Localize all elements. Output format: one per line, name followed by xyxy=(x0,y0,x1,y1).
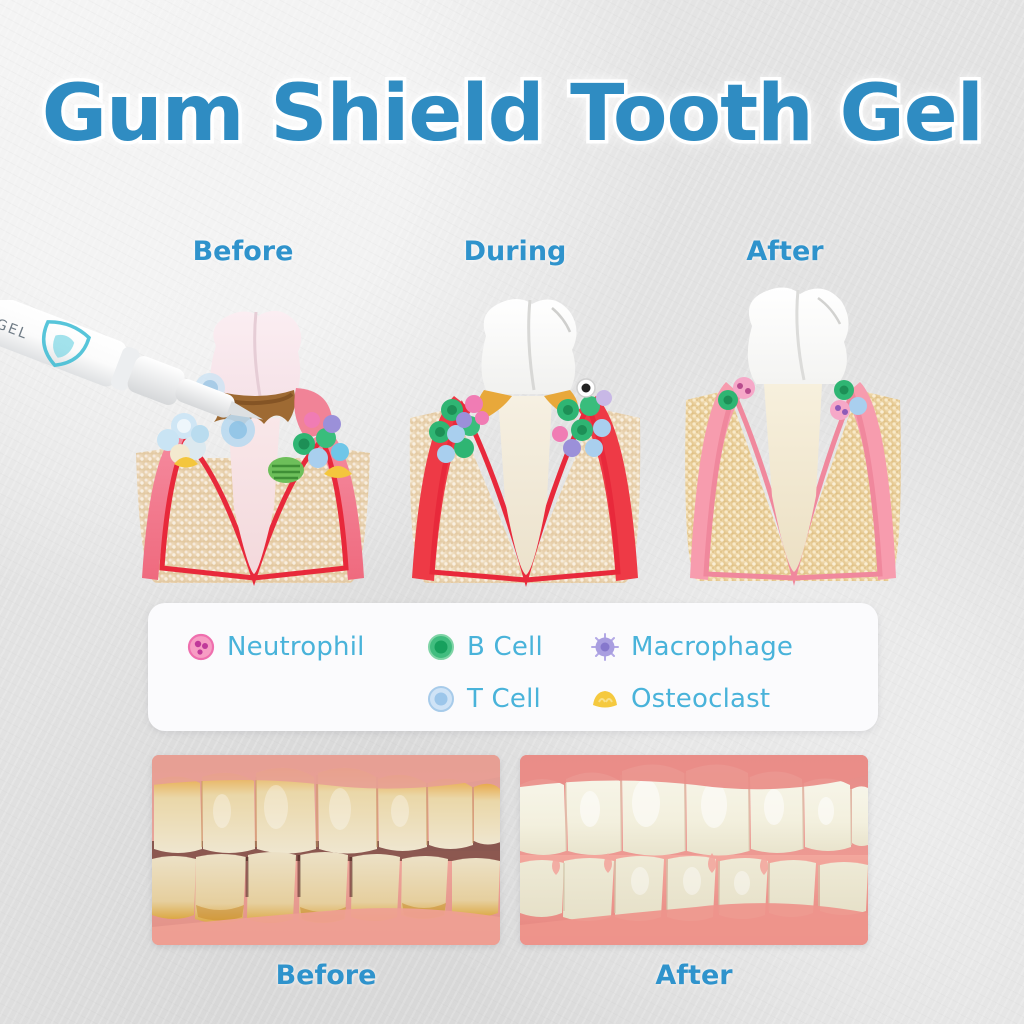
page-title: Gum Shield Tooth Gel xyxy=(41,72,982,156)
legend-item-b-cell: B Cell xyxy=(426,628,543,666)
tooth-after-illustration xyxy=(668,278,918,588)
photo-label-before: Before xyxy=(152,960,500,991)
legend-label-osteoclast: Osteoclast xyxy=(631,684,770,714)
legend-column-3: Macrophage Osteoclast xyxy=(590,628,793,718)
tooth-during-illustration xyxy=(400,278,650,588)
legend-label-macrophage: Macrophage xyxy=(631,632,793,662)
tooth-diagram-during xyxy=(400,278,650,588)
page-title-wrap: Gum Shield Tooth Gel xyxy=(0,72,1024,156)
legend-label-t-cell: T Cell xyxy=(467,684,541,714)
immune-cell-cluster-left xyxy=(718,377,755,410)
cell-legend-panel: Neutrophil B Cell T Cell xyxy=(148,603,878,731)
t-cell-icon xyxy=(426,684,456,714)
legend-item-neutrophil: Neutrophil xyxy=(186,628,365,666)
tooth-diagram-after xyxy=(668,278,918,588)
applicator-illustration: OTH GEL xyxy=(0,300,296,430)
osteoclast-cell-icon xyxy=(590,684,620,714)
legend-column-1: Neutrophil xyxy=(186,628,365,666)
photo-before-image xyxy=(152,755,500,945)
photo-label-after: After xyxy=(520,960,868,991)
photo-before xyxy=(152,755,500,945)
b-cell-icon xyxy=(426,632,456,662)
stage-label-before: Before xyxy=(148,236,338,267)
legend-item-t-cell: T Cell xyxy=(426,680,543,718)
legend-item-macrophage: Macrophage xyxy=(590,628,793,666)
immune-cell-cluster-left xyxy=(429,395,489,463)
legend-item-osteoclast: Osteoclast xyxy=(590,680,793,718)
product-infographic: Gum Shield Tooth Gel Before During After xyxy=(0,0,1024,1024)
photo-after-image xyxy=(520,755,868,945)
legend-label-b-cell: B Cell xyxy=(467,632,543,662)
photo-after xyxy=(520,755,868,945)
stage-label-after: After xyxy=(690,236,880,267)
gel-applicator-pen: OTH GEL xyxy=(0,300,296,430)
legend-column-2: B Cell T Cell xyxy=(426,628,543,718)
neutrophil-cell-icon xyxy=(186,632,216,662)
legend-label-neutrophil: Neutrophil xyxy=(227,632,365,662)
stage-label-during: During xyxy=(420,236,610,267)
macrophage-cell-icon xyxy=(590,632,620,662)
